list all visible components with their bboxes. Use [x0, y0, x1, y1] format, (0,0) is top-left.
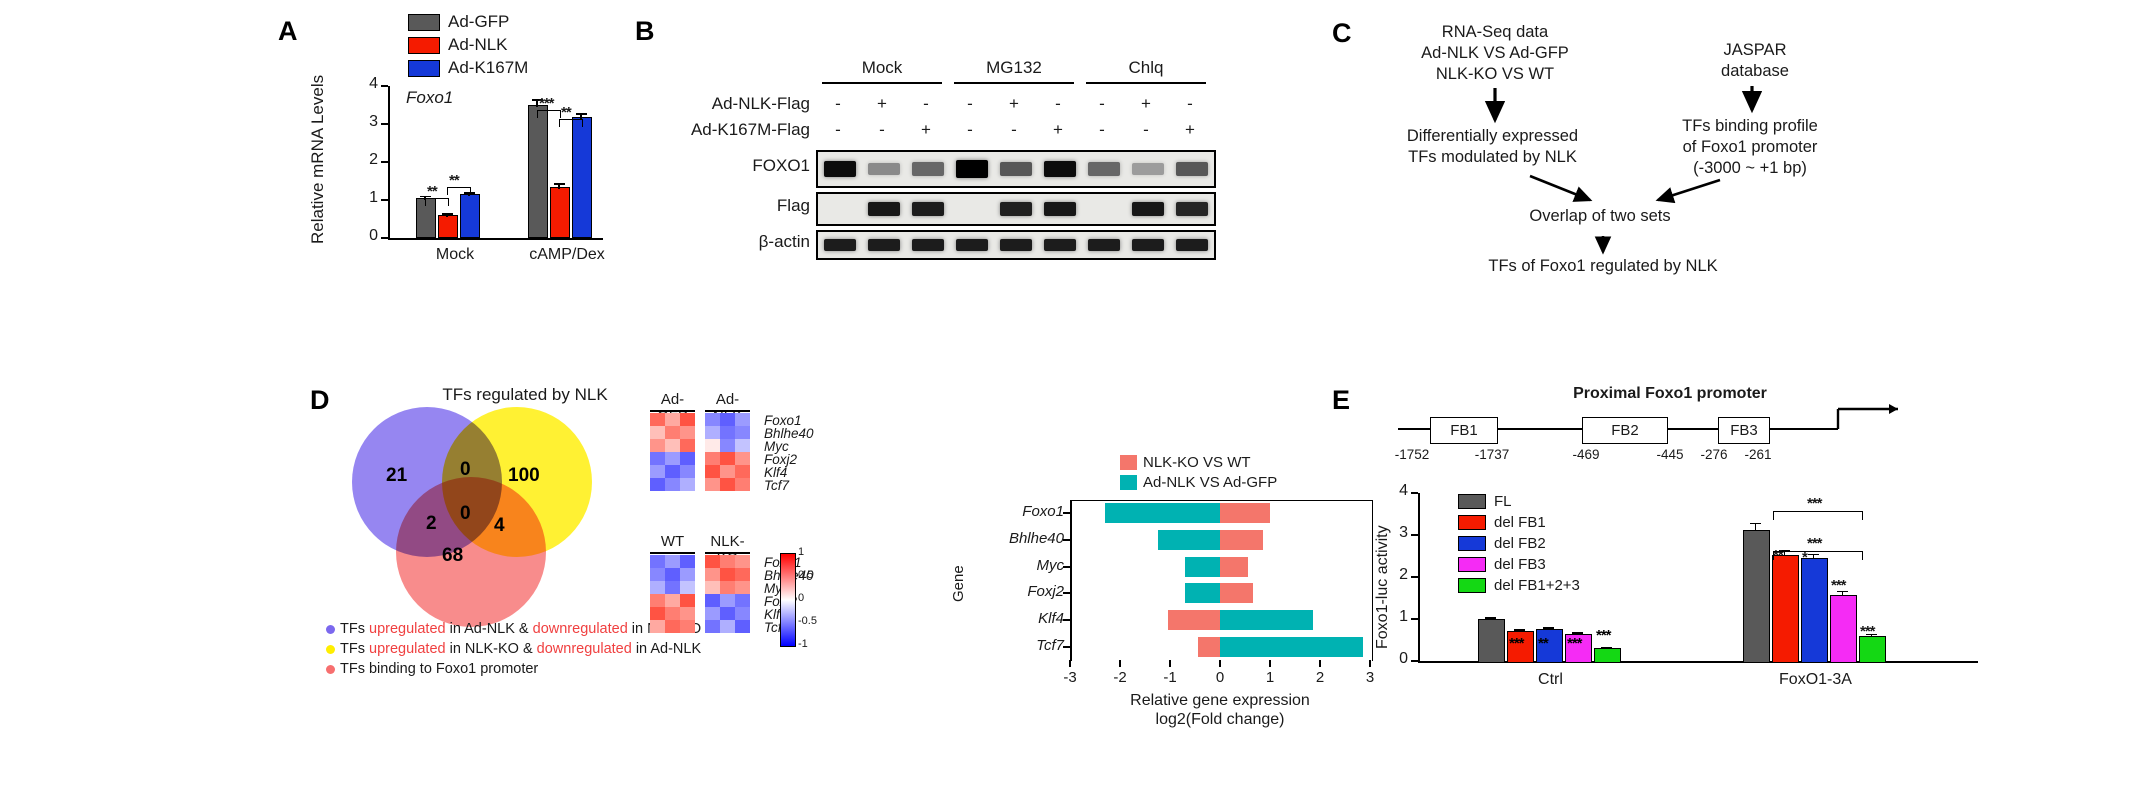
- panel-d-xtick: [1319, 660, 1321, 667]
- panel-d-gene-label: Foxo1: [984, 503, 1064, 520]
- panel-b-blot-label: β-actin: [640, 232, 810, 252]
- heatmap-rule: [650, 410, 695, 412]
- swatch-4: [1458, 578, 1486, 593]
- panel-b-pm: +: [916, 120, 936, 140]
- panel-e-errorcap: [1572, 632, 1583, 634]
- panel-a-plot: 01234MockcAMP/Dex*********: [388, 86, 603, 238]
- heatmap-rule: [705, 410, 750, 412]
- heatmap-cell: [720, 620, 735, 633]
- heatmap-cell: [720, 607, 735, 620]
- panel-e-sig-ctrl: ***: [1567, 635, 1582, 652]
- legend-swatch: [1120, 455, 1137, 470]
- panel-d-ylabel: Gene: [950, 565, 967, 602]
- panel-d-xtick-label: 1: [1258, 669, 1282, 686]
- panel-e-sig-bracket: [1773, 551, 1863, 560]
- panel-e: E Proximal Foxo1 promoter FB1FB2FB3-1752…: [1340, 385, 2130, 780]
- panel-a-errorbar: [558, 185, 560, 189]
- fb-box-fb3: FB3: [1718, 417, 1770, 444]
- heatmap-cell: [720, 568, 735, 581]
- heatmap-cell: [680, 555, 695, 568]
- heatmap-cell: [720, 452, 735, 465]
- panel-b-pm: -: [1136, 120, 1156, 140]
- heatmap-cell: [705, 555, 720, 568]
- panel-a-bar: [438, 215, 458, 238]
- panel-b-pm: -: [960, 94, 980, 114]
- heatmap-cell: [650, 413, 665, 426]
- heatmap-cell: [650, 426, 665, 439]
- heatmap-cell: [735, 607, 750, 620]
- panel-a-legend-item-ad-nlk: Ad-NLK: [408, 35, 508, 55]
- panel-b-band: [912, 202, 944, 216]
- panel-a-ylabel: Relative mRNA Levels: [308, 75, 328, 244]
- panel-d-bar: [1105, 503, 1220, 523]
- panel-d-xtick-label: -1: [1158, 669, 1182, 686]
- panel-b-band: [1044, 202, 1076, 216]
- heatmap-cell: [680, 426, 695, 439]
- heatmap-cell: [665, 452, 680, 465]
- heatmap-cell: [665, 594, 680, 607]
- promoter-coord: -1752: [1388, 447, 1436, 462]
- heatmap-cell: [735, 465, 750, 478]
- panel-a-errorcap: [442, 213, 453, 215]
- heatmap-cell: [735, 568, 750, 581]
- heatmap-cell: [735, 439, 750, 452]
- colorbar-tick-label: 0.5: [798, 569, 813, 581]
- venn-count-yellow-only: 100: [508, 465, 540, 487]
- heatmap-cell: [705, 413, 720, 426]
- panel-e-ytick: [1411, 618, 1418, 620]
- panel-b-band: [956, 239, 988, 251]
- heatmap-cell: [735, 478, 750, 491]
- panel-a-ytick: [381, 161, 388, 163]
- panel-b-pm: +: [1136, 94, 1156, 114]
- panel-b-pm: +: [872, 94, 892, 114]
- panel-e-xtick-label: FoxO1-3A: [1703, 671, 1928, 689]
- panel-d-bar: [1220, 557, 1248, 577]
- heatmap-cell: [650, 581, 665, 594]
- panel-a-yaxis: [388, 86, 390, 238]
- panel-b-band: [1132, 239, 1164, 251]
- panel-e-sig-ctrl: ***: [1596, 627, 1611, 644]
- colorbar: [780, 553, 796, 647]
- heatmap-cell: [735, 581, 750, 594]
- heatmap-cell: [680, 568, 695, 581]
- heatmap-cell: [705, 568, 720, 581]
- panel-b-blot-1: [816, 192, 1216, 226]
- heatmap-cell: [735, 555, 750, 568]
- colorbar-tick-label: -1: [798, 638, 808, 650]
- panel-b-pm: -: [872, 120, 892, 140]
- panel-a-ytick-label: 0: [354, 227, 378, 245]
- panel-d-ytick: [1063, 619, 1070, 621]
- panel-d-xtick: [1119, 660, 1121, 667]
- panel-d-ytick: [1063, 592, 1070, 594]
- panel-e-ytick: [1411, 576, 1418, 578]
- panel-b-band: [1088, 239, 1120, 251]
- panel-d-gene-label: Myc: [984, 557, 1064, 574]
- panel-e-bar: [1772, 555, 1799, 663]
- panel-d-ytick: [1063, 512, 1070, 514]
- panel-b-group-rule: [822, 82, 942, 84]
- heatmap-cell: [650, 620, 665, 633]
- venn-legend-item-0: TFs upregulated in Ad-NLK & downregulate…: [326, 621, 701, 637]
- heatmap-cell: [720, 465, 735, 478]
- panel-d-bar: [1198, 637, 1221, 657]
- panel-d-gene-label: Foxj2: [984, 583, 1064, 600]
- heatmap-cell: [650, 607, 665, 620]
- heatmap-cell: [650, 439, 665, 452]
- panel-e-ytick: [1411, 534, 1418, 536]
- panel-b-row-label: Ad-K167M-Flag: [640, 120, 810, 140]
- colorbar-tick-label: 0: [798, 592, 804, 604]
- heatmap-cell: [665, 607, 680, 620]
- heatmap-cell: [680, 439, 695, 452]
- heatmap-cell: [650, 568, 665, 581]
- panel-a-errorcap: [576, 113, 587, 115]
- heatmap-cell: [680, 620, 695, 633]
- heatmap-cell: [650, 452, 665, 465]
- panel-e-legend-label: del FB2: [1494, 535, 1546, 552]
- panel-d-xtick-label: -2: [1108, 669, 1132, 686]
- panel-a-legend-item-ad-gfp: Ad-GFP: [408, 12, 509, 32]
- panel-e-xtick-label: Ctrl: [1438, 671, 1663, 689]
- panel-a-ytick: [381, 123, 388, 125]
- heatmap-cell: [665, 426, 680, 439]
- venn-legend-text: TFs: [340, 621, 369, 637]
- panel-e-ytick: [1411, 492, 1418, 494]
- panel-e-legend-item-1: del FB1: [1458, 514, 1546, 531]
- heatmap-cell: [705, 439, 720, 452]
- swatch-ad-gfp: [408, 14, 440, 31]
- panel-b-band: [912, 239, 944, 251]
- panel-e-errorcap: [1750, 523, 1761, 525]
- panel-d-gene-label: Bhlhe40: [984, 530, 1064, 547]
- panel-b-band: [912, 162, 944, 175]
- venn-legend-text: upregulated: [369, 641, 446, 657]
- panel-d-xtick: [1169, 660, 1171, 667]
- panel-e-errorcap: [1601, 647, 1612, 649]
- panel-b-pm: +: [1004, 94, 1024, 114]
- panel-b-band: [824, 239, 856, 251]
- heatmap-cell: [705, 607, 720, 620]
- heatmap-cell: [650, 478, 665, 491]
- panel-b-pm: +: [1048, 120, 1068, 140]
- panel-d-xtick: [1219, 660, 1221, 667]
- panel-a-bar: [550, 187, 570, 238]
- venn-title: TFs regulated by NLK: [400, 385, 650, 405]
- heatmap-cell: [680, 581, 695, 594]
- panel-a-ytick-label: 1: [354, 189, 378, 207]
- panel-a-label: A: [278, 16, 298, 47]
- panel-b-band: [1176, 162, 1208, 176]
- panel-a-errorcap: [554, 183, 565, 185]
- panel-b-group-rule: [954, 82, 1074, 84]
- panel-e-label: E: [1332, 385, 1350, 416]
- panel-b-label: B: [635, 16, 655, 47]
- panel-e-sig-ctrl: **: [1538, 635, 1548, 652]
- panel-a-sig-star: ***: [539, 95, 554, 112]
- panel-b-band: [1044, 161, 1076, 178]
- panel-a-sig-star: **: [449, 172, 459, 189]
- heatmap-cell: [705, 620, 720, 633]
- promoter-coord: -469: [1562, 447, 1610, 462]
- heatmap-cell: [735, 620, 750, 633]
- heatmap-cell: [665, 581, 680, 594]
- venn-count-blue-only: 21: [386, 465, 407, 487]
- swatch-ad-nlk: [408, 37, 440, 54]
- heatmap-cell: [680, 452, 695, 465]
- panel-d-xtick-label: 2: [1308, 669, 1332, 686]
- panel-b-band: [824, 161, 856, 178]
- panel-b-blot-label: FOXO1: [640, 156, 810, 176]
- heatmap-cell: [650, 465, 665, 478]
- panel-e-legend-label: del FB3: [1494, 556, 1546, 573]
- venn-legend-text: TFs: [340, 641, 369, 657]
- panel-e-bar: [1478, 619, 1505, 663]
- heatmap-cell: [665, 620, 680, 633]
- panel-e-errorcap: [1543, 627, 1554, 629]
- panel-e-errorcap: [1514, 629, 1525, 631]
- panel-b-pm: +: [1180, 120, 1200, 140]
- panel-a-legend-label: Ad-NLK: [448, 35, 508, 55]
- venn-count-blue-pink: 2: [426, 513, 437, 535]
- heatmap-cell: [705, 594, 720, 607]
- panel-a-bar: [460, 194, 480, 238]
- panel-a-xaxis: [388, 238, 603, 240]
- venn-legend-text: in Ad-NLK: [632, 641, 701, 657]
- panel-b-band: [1088, 162, 1120, 175]
- panel-b-band: [1176, 239, 1208, 251]
- venn-legend-text: in NLK-KO &: [446, 641, 537, 657]
- venn-legend-dot: [326, 665, 335, 674]
- panel-e-ytick: [1411, 660, 1418, 662]
- panel-b-group-header: Mock: [822, 58, 942, 78]
- heatmap-cell: [680, 413, 695, 426]
- panel-a-ytick: [381, 237, 388, 239]
- panel-b-row-label: Ad-NLK-Flag: [640, 94, 810, 114]
- panel-b-pm: -: [1048, 94, 1068, 114]
- heatmap-cell: [665, 568, 680, 581]
- heatmap-cell: [705, 426, 720, 439]
- panel-d-bar: [1220, 610, 1313, 630]
- swatch-1: [1458, 515, 1486, 530]
- panel-d-label: D: [310, 385, 330, 416]
- panel-e-sig-bracket-star: ***: [1807, 495, 1822, 512]
- heatmap-cell: [665, 555, 680, 568]
- panel-e-legend-label: del FB1: [1494, 514, 1546, 531]
- promoter-title: Proximal Foxo1 promoter: [1460, 385, 1880, 403]
- heatmap-gene-label: Tcf7: [764, 478, 789, 493]
- heatmap-cell: [735, 452, 750, 465]
- heatmap-header: WT: [650, 533, 695, 550]
- panel-d-legend-item-1: Ad-NLK VS Ad-GFP: [1120, 474, 1277, 491]
- colorbar-tick-label: -0.5: [798, 615, 817, 627]
- panel-e-ytick-label: 4: [1384, 482, 1408, 500]
- heatmap-cell: [720, 426, 735, 439]
- panel-b-pm: -: [1180, 94, 1200, 114]
- panel-d-xtick: [1269, 660, 1271, 667]
- panel-d-xtick-label: 0: [1208, 669, 1232, 686]
- venn-legend-dot: [326, 645, 335, 654]
- panel-b-group-header: Chlq: [1086, 58, 1206, 78]
- swatch-3: [1458, 557, 1486, 572]
- heatmap-cell: [735, 594, 750, 607]
- fb-box-fb1: FB1: [1430, 417, 1498, 444]
- panel-d-legend-item-0: NLK-KO VS WT: [1120, 454, 1251, 471]
- panel-a-ytick-label: 4: [354, 75, 378, 93]
- panel-a-ytick-label: 3: [354, 113, 378, 131]
- panel-a-xtick-label: Mock: [400, 246, 510, 264]
- panel-a-sig-star: **: [561, 104, 571, 121]
- panel-e-sig-bracket-star: ***: [1807, 535, 1822, 552]
- legend-swatch: [1120, 475, 1137, 490]
- panel-e-sig-foxo: ***: [1860, 623, 1875, 640]
- heatmap-rule: [650, 552, 695, 554]
- panel-b-band: [1000, 202, 1032, 216]
- panel-d-gene-label: Tcf7: [984, 637, 1064, 654]
- heatmap-cell: [650, 594, 665, 607]
- heatmap-cell: [680, 465, 695, 478]
- panel-b-pm: -: [828, 120, 848, 140]
- panel-d-ytick: [1063, 646, 1070, 648]
- panel-d-bar: [1185, 583, 1220, 603]
- panel-a-errorbar: [446, 215, 448, 217]
- panel-e-legend-item-4: del FB1+2+3: [1458, 577, 1580, 594]
- panel-a-ytick: [381, 199, 388, 201]
- heatmap-cell: [705, 478, 720, 491]
- panel-b-band: [956, 160, 988, 177]
- panel-b-band: [1176, 202, 1208, 216]
- heatmap-cell: [735, 426, 750, 439]
- panel-b-blot-label: Flag: [640, 196, 810, 216]
- panel-b: B MockMG132ChlqAd-NLK-Flag-+--+--+-Ad-K1…: [640, 8, 1260, 268]
- panel-b-band: [1000, 162, 1032, 176]
- heatmap-cell: [650, 555, 665, 568]
- venn-legend-item-2: TFs binding to Foxo1 promoter: [326, 661, 538, 677]
- colorbar-tick-label: 1: [798, 546, 804, 558]
- venn-count-blue-yellow: 0: [460, 459, 471, 481]
- swatch-0: [1458, 494, 1486, 509]
- heatmap-cell: [665, 439, 680, 452]
- venn-legend-dot: [326, 625, 335, 634]
- panel-b-band: [868, 202, 900, 216]
- panel-b-pm: -: [1092, 94, 1112, 114]
- panel-e-sig-ctrl: ***: [1509, 635, 1524, 652]
- swatch-ad-k167m: [408, 60, 440, 77]
- heatmap-cell: [680, 594, 695, 607]
- panel-e-bar: [1830, 595, 1857, 663]
- venn-count-yellow-pink: 4: [494, 515, 505, 537]
- panel-b-band: [1044, 239, 1076, 251]
- panel-a: A Ad-GFPAd-NLKAd-K167M Foxo1 Relative mR…: [330, 8, 620, 268]
- panel-e-ytick-label: 0: [1384, 650, 1408, 668]
- panel-b-band: [868, 163, 900, 175]
- panel-e-legend-item-3: del FB3: [1458, 556, 1546, 573]
- heatmap-cell: [705, 465, 720, 478]
- panel-d-bar: [1158, 530, 1221, 550]
- panel-b-band: [1000, 239, 1032, 251]
- venn-legend-text: downregulated: [533, 621, 628, 637]
- venn-legend-item-1: TFs upregulated in NLK-KO & downregulate…: [326, 641, 701, 657]
- panel-b-blot-2: [816, 230, 1216, 260]
- heatmap-rule: [705, 552, 750, 554]
- panel-a-ytick: [381, 85, 388, 87]
- heatmap-cell: [665, 465, 680, 478]
- heatmap-cell: [680, 478, 695, 491]
- heatmap-cell: [720, 581, 735, 594]
- promoter-coord: -276: [1690, 447, 1738, 462]
- panel-a-errorbar: [536, 101, 538, 107]
- panel-d-xlabel: Relative gene expression: [1070, 692, 1370, 710]
- heatmap-cell: [720, 413, 735, 426]
- panel-b-band: [1132, 202, 1164, 216]
- heatmap-cell: [720, 439, 735, 452]
- venn-legend-text: TFs binding to Foxo1 promoter: [340, 661, 538, 677]
- panel-d-xtick-label: -3: [1058, 669, 1082, 686]
- panel-d-bar: [1168, 610, 1221, 630]
- panel-a-bar: [572, 117, 592, 238]
- heatmap-cell: [665, 413, 680, 426]
- panel-c-arrows: [1340, 8, 1940, 308]
- panel-e-bar: [1801, 558, 1828, 663]
- panel-e-legend-item-2: del FB2: [1458, 535, 1546, 552]
- panel-d-legend-label: Ad-NLK VS Ad-GFP: [1143, 474, 1277, 491]
- panel-e-bar: [1594, 648, 1621, 663]
- heatmap-cell: [720, 555, 735, 568]
- panel-e-legend-label: del FB1+2+3: [1494, 577, 1580, 594]
- panel-b-pm: -: [960, 120, 980, 140]
- panel-b-group-rule: [1086, 82, 1206, 84]
- panel-b-band: [868, 239, 900, 251]
- heatmap-cell: [705, 581, 720, 594]
- heatmap-cell: [720, 478, 735, 491]
- panel-e-bar: [1743, 530, 1770, 663]
- fb-box-fb2: FB2: [1582, 417, 1668, 444]
- panel-e-sig-foxo: ***: [1831, 577, 1846, 594]
- heatmap-cell: [720, 594, 735, 607]
- panel-e-sig-bracket: [1773, 511, 1863, 520]
- panel-e-ylabel: Foxo1-luc activity: [1374, 525, 1392, 649]
- venn-legend-text: in Ad-NLK &: [446, 621, 533, 637]
- panel-a-bar: [528, 105, 548, 238]
- promoter-coord: -445: [1646, 447, 1694, 462]
- panel-b-pm: -: [916, 94, 936, 114]
- venn-count-all-three: 0: [460, 503, 471, 525]
- heatmap-cell: [735, 413, 750, 426]
- venn-legend-text: upregulated: [369, 621, 446, 637]
- panel-e-errorcap: [1485, 617, 1496, 619]
- panel-e-yaxis: [1418, 493, 1420, 661]
- panel-a-legend-item-ad-k167m: Ad-K167M: [408, 58, 528, 78]
- panel-a-ytick-label: 2: [354, 151, 378, 169]
- panel-d-bar: [1220, 503, 1270, 523]
- panel-d-legend-label: NLK-KO VS WT: [1143, 454, 1251, 471]
- panel-a-sig-star: **: [427, 183, 437, 200]
- promoter-coord: -1737: [1468, 447, 1516, 462]
- panel-b-blot-0: [816, 150, 1216, 188]
- panel-d-bar: [1220, 583, 1253, 603]
- panel-a-legend-label: Ad-GFP: [448, 12, 509, 32]
- panel-b-pm: -: [1004, 120, 1024, 140]
- panel-d-ytick: [1063, 566, 1070, 568]
- panel-c: C RNA-Seq dataAd-NLK VS Ad-GFPNLK-KO VS …: [1340, 8, 1940, 268]
- panel-b-group-header: MG132: [954, 58, 1074, 78]
- panel-d-ytick: [1063, 539, 1070, 541]
- panel-b-pm: -: [828, 94, 848, 114]
- promoter-coord: -261: [1734, 447, 1782, 462]
- panel-b-pm: -: [1092, 120, 1112, 140]
- panel-b-band: [1132, 163, 1164, 174]
